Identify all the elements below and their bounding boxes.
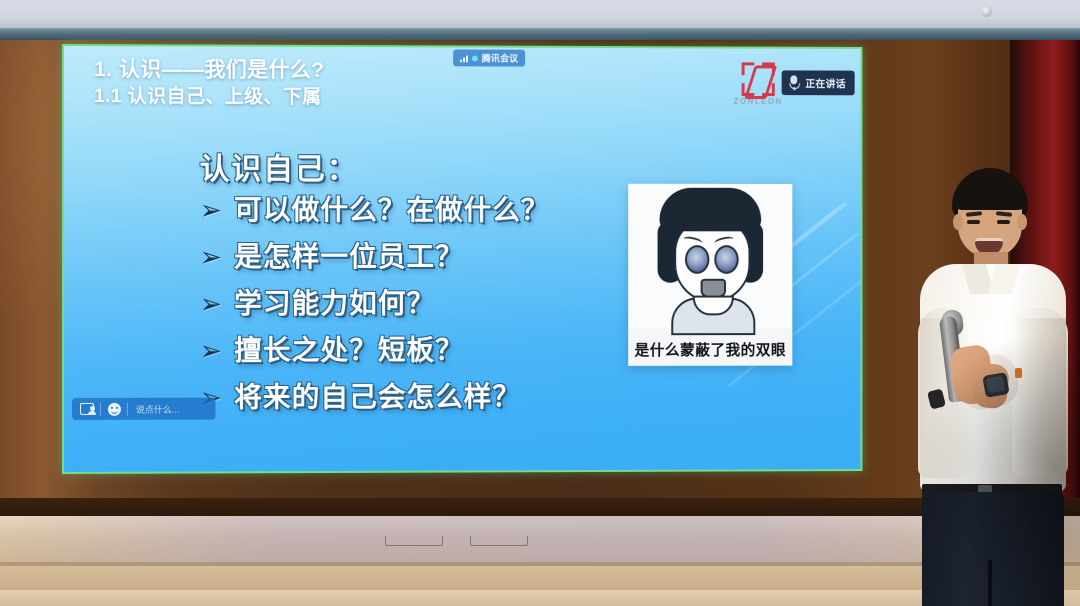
- floor-vent-left: [385, 536, 443, 546]
- ceiling: [0, 0, 1080, 30]
- list-item-label: 学习能力如何？: [234, 282, 435, 322]
- smiley-icon[interactable]: [101, 399, 127, 419]
- lapel-badge: [1015, 368, 1022, 378]
- speaking-badge: 正在讲话: [782, 70, 855, 95]
- brand-logo: ZONLEON: [732, 62, 785, 106]
- list-item: ➢ 学习能力如何？: [200, 282, 664, 322]
- list-item: ➢ 将来的自己会怎么样？: [200, 375, 664, 416]
- recording-dot-icon: [472, 55, 478, 61]
- meme-caption: 是什么蒙蔽了我的双眼: [628, 339, 792, 360]
- cartoon-girl-illustration: [628, 184, 792, 329]
- floor-vent-right: [470, 536, 528, 546]
- meeting-chat-bar[interactable]: 说点什么...: [72, 398, 215, 420]
- projection-screen: 1. 认识——我们是什么? 1.1 认识自己、上级、下属 腾讯会议 ZONLEO…: [62, 44, 862, 474]
- arrow-bullet-icon: ➢: [200, 197, 223, 224]
- slide-title-line2: 1.1 认识自己、上级、下属: [94, 84, 324, 110]
- slide-title: 1. 认识——我们是什么? 1.1 认识自己、上级、下属: [94, 56, 324, 109]
- chat-input[interactable]: 说点什么...: [128, 402, 213, 415]
- list-item-label: 是怎样一位员工？: [234, 235, 464, 275]
- participants-icon[interactable]: [74, 399, 100, 419]
- list-item-label: 可以做什么？在做什么？: [234, 188, 549, 228]
- arrow-bullet-icon: ➢: [200, 244, 223, 271]
- meeting-app-name: 腾讯会议: [482, 52, 519, 65]
- bullet-list: ➢ 可以做什么？在做什么？ ➢ 是怎样一位员工？ ➢ 学习能力如何？ ➢ 擅长之…: [200, 188, 664, 422]
- presenter-figure: [900, 168, 1080, 606]
- zonleon-logo-icon: [742, 62, 775, 96]
- list-item: ➢ 擅长之处？短板？: [200, 328, 664, 368]
- list-item-label: 将来的自己会怎么样？: [234, 375, 521, 415]
- list-item-label: 擅长之处？短板？: [234, 329, 464, 369]
- list-item: ➢ 是怎样一位员工？: [200, 235, 664, 275]
- slide-canvas: 1. 认识——我们是什么? 1.1 认识自己、上级、下属 腾讯会议 ZONLEO…: [64, 46, 860, 472]
- arrow-bullet-icon: ➢: [200, 291, 223, 318]
- meme-image-card: 是什么蒙蔽了我的双眼: [628, 184, 792, 366]
- speaking-label: 正在讲话: [805, 75, 845, 90]
- slide-heading: 认识自己：: [200, 144, 359, 188]
- tencent-meeting-indicator: 腾讯会议: [453, 49, 525, 66]
- screenshot-root: 1. 认识——我们是什么? 1.1 认识自己、上级、下属 腾讯会议 ZONLEO…: [0, 0, 1080, 606]
- signal-bars-icon: [460, 54, 468, 62]
- microphone-icon: [790, 75, 799, 90]
- slide-title-line1: 1. 认识——我们是什么?: [94, 56, 324, 84]
- list-item: ➢ 可以做什么？在做什么？: [200, 188, 664, 228]
- arrow-bullet-icon: ➢: [200, 338, 223, 365]
- ceiling-light-icon: [981, 6, 992, 17]
